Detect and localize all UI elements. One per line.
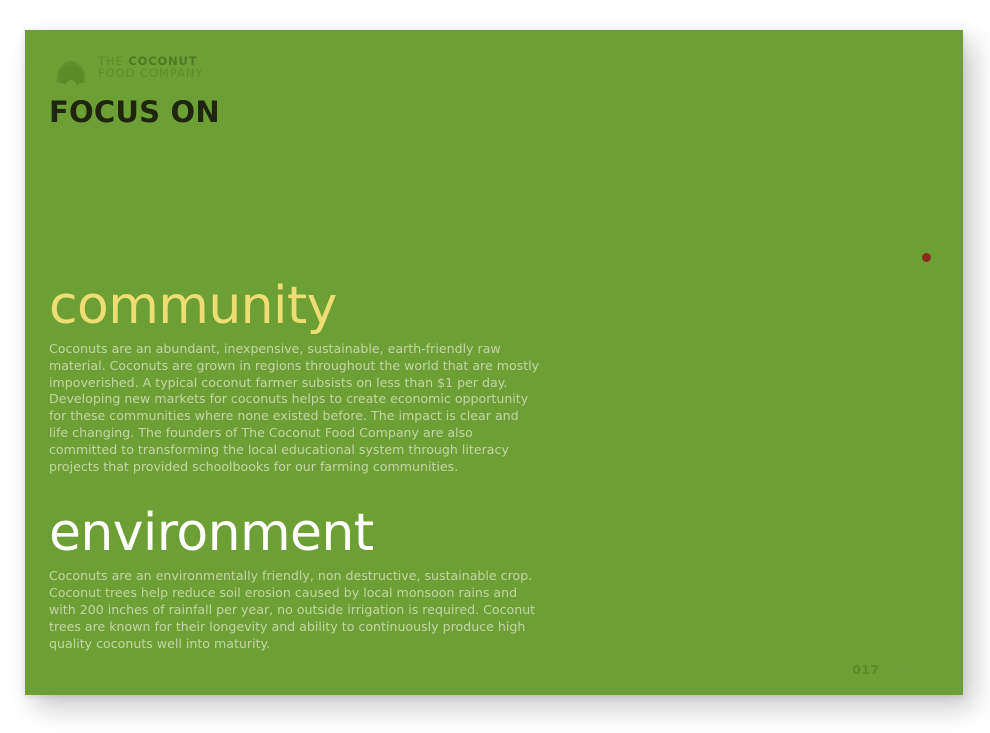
brand-logo[interactable]: THE COCONUT FOOD COMPANY bbox=[51, 50, 203, 90]
section-body-community: Coconuts are an abundant, inexpensive, s… bbox=[49, 341, 541, 475]
accent-dot bbox=[922, 253, 931, 262]
slide-page: THE COCONUT FOOD COMPANY FOCUS ON commun… bbox=[0, 0, 990, 733]
section-environment: environment Coconuts are an environmenta… bbox=[49, 507, 569, 652]
slide-canvas: THE COCONUT FOOD COMPANY FOCUS ON commun… bbox=[25, 30, 963, 695]
page-title: FOCUS ON bbox=[49, 95, 220, 129]
section-heading-community: community bbox=[49, 280, 569, 332]
company-code: TCFC bbox=[893, 662, 926, 677]
coconut-palm-fan-icon bbox=[51, 50, 91, 90]
section-body-environment: Coconuts are an environmentally friendly… bbox=[49, 568, 541, 652]
content-area: community Coconuts are an abundant, inex… bbox=[49, 280, 569, 652]
section-heading-environment: environment bbox=[49, 507, 569, 559]
brand-wordmark-line-2: FOOD COMPANY bbox=[98, 67, 203, 79]
page-number-value: 017 bbox=[852, 662, 879, 677]
brand-wordmark: THE COCONUT FOOD COMPANY bbox=[98, 55, 203, 80]
page-number-footer: 017 / TCFC bbox=[852, 662, 926, 677]
section-community: community Coconuts are an abundant, inex… bbox=[49, 280, 569, 475]
page-number-separator: / bbox=[879, 662, 892, 677]
